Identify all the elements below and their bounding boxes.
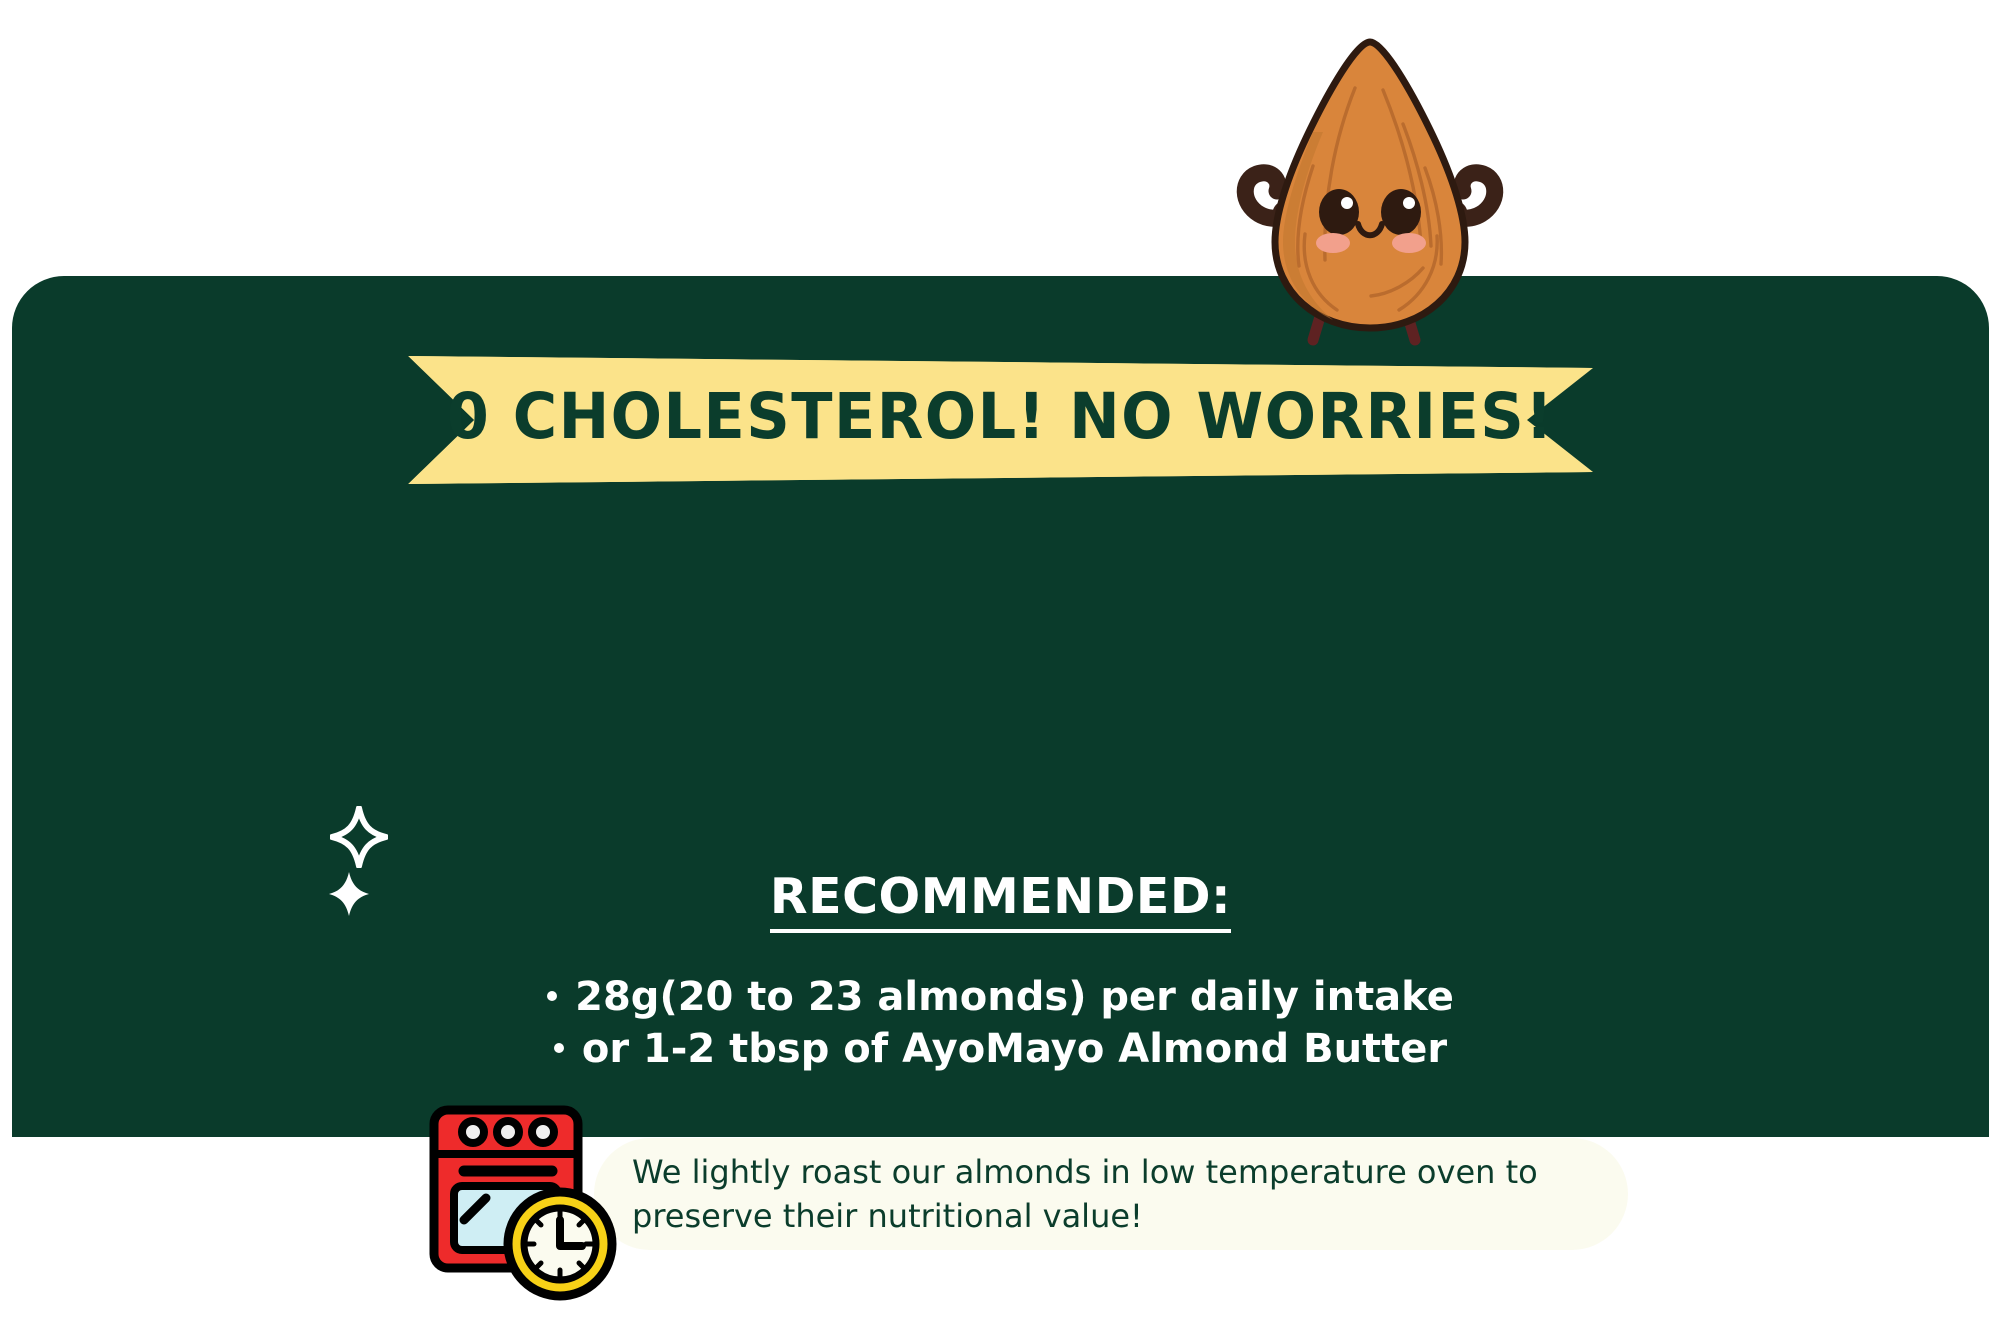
sparkle-outline-left: [330, 806, 388, 868]
sparkle-filled-right: [1656, 1211, 1698, 1257]
banner-ribbon: 0 CHOLESTEROL! NO WORRIES!: [408, 352, 1593, 488]
oven-clock-icon: [420, 1102, 630, 1302]
banner-title: 0 CHOLESTEROL! NO WORRIES!: [432, 380, 1570, 453]
bullet-icon: [547, 991, 557, 1001]
roast-callout: We lightly roast our almonds in low temp…: [594, 1138, 1628, 1250]
list-item: or 1-2 tbsp of AyoMayo Almond Butter: [12, 1024, 1989, 1075]
bullet-icon: [554, 1043, 564, 1053]
sparkle-outline-right: [1684, 1258, 1742, 1320]
recommended-list: 28g(20 to 23 almonds) per daily intake o…: [12, 972, 1989, 1074]
roast-callout-text: We lightly roast our almonds in low temp…: [594, 1150, 1628, 1238]
recommended-section: RECOMMENDED: 28g(20 to 23 almonds) per d…: [12, 871, 1989, 1075]
list-item: 28g(20 to 23 almonds) per daily intake: [12, 972, 1989, 1023]
almond-mascot: [1185, 28, 1555, 348]
page-title: RECOMMENDED:: [770, 871, 1231, 933]
mascot-body: [1275, 42, 1465, 328]
list-item-label: 28g(20 to 23 almonds) per daily intake: [575, 974, 1454, 1020]
list-item-label: or 1-2 tbsp of AyoMayo Almond Butter: [582, 1026, 1447, 1072]
